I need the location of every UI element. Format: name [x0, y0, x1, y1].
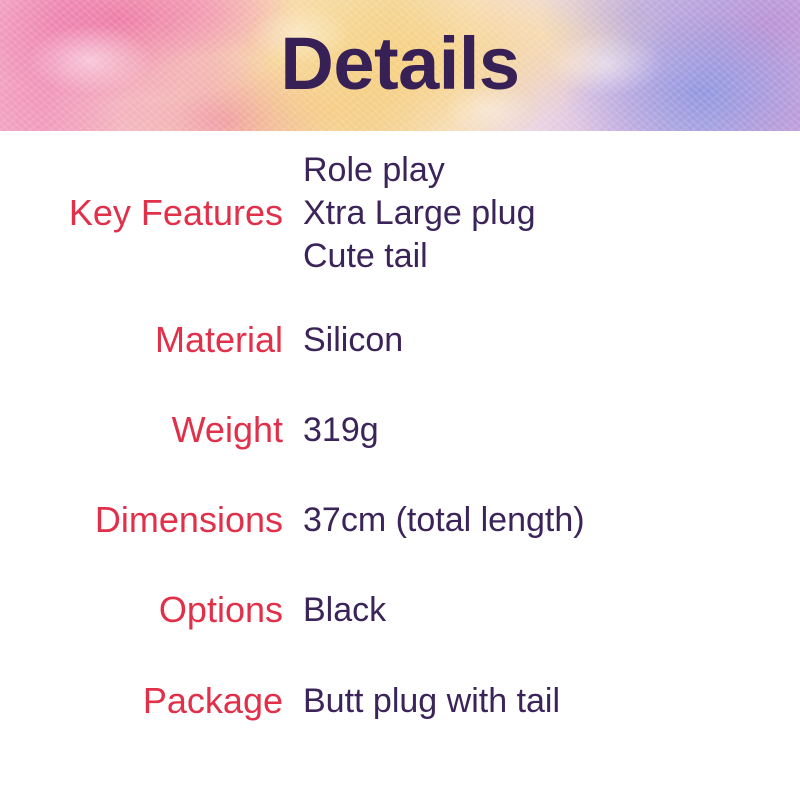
- spec-label-weight: Weight: [0, 410, 283, 450]
- spec-row-key-features: Key Features Role play Xtra Large plug C…: [0, 131, 800, 295]
- spec-value-line: Cute tail: [303, 235, 800, 278]
- spec-row-material: Material Silicon: [0, 295, 800, 385]
- spec-value-line: Silicon: [303, 319, 800, 362]
- spec-value-key-features: Role play Xtra Large plug Cute tail: [283, 149, 800, 278]
- spec-label-dimensions: Dimensions: [0, 500, 283, 540]
- header-banner: Details: [0, 0, 800, 131]
- spec-row-package: Package Butt plug with tail: [0, 655, 800, 747]
- spec-label-options: Options: [0, 590, 283, 630]
- spec-value-package: Butt plug with tail: [283, 680, 800, 723]
- spec-value-line: 37cm (total length): [303, 499, 800, 542]
- spec-value-dimensions: 37cm (total length): [283, 499, 800, 542]
- spec-row-dimensions: Dimensions 37cm (total length): [0, 475, 800, 565]
- spec-value-material: Silicon: [283, 319, 800, 362]
- spec-value-options: Black: [283, 589, 800, 632]
- spec-label-key-features: Key Features: [0, 193, 283, 233]
- spec-value-line: Butt plug with tail: [303, 680, 800, 723]
- spec-value-line: Role play: [303, 149, 800, 192]
- spec-value-line: 319g: [303, 409, 800, 452]
- page-title: Details: [0, 0, 800, 131]
- spec-row-options: Options Black: [0, 565, 800, 655]
- spec-value-line: Xtra Large plug: [303, 192, 800, 235]
- spec-label-material: Material: [0, 320, 283, 360]
- spec-label-package: Package: [0, 681, 283, 721]
- spec-value-weight: 319g: [283, 409, 800, 452]
- spec-value-line: Black: [303, 589, 800, 632]
- details-spec-page: Details Key Features Role play Xtra Larg…: [0, 0, 800, 800]
- spec-row-weight: Weight 319g: [0, 385, 800, 475]
- spec-table: Key Features Role play Xtra Large plug C…: [0, 131, 800, 747]
